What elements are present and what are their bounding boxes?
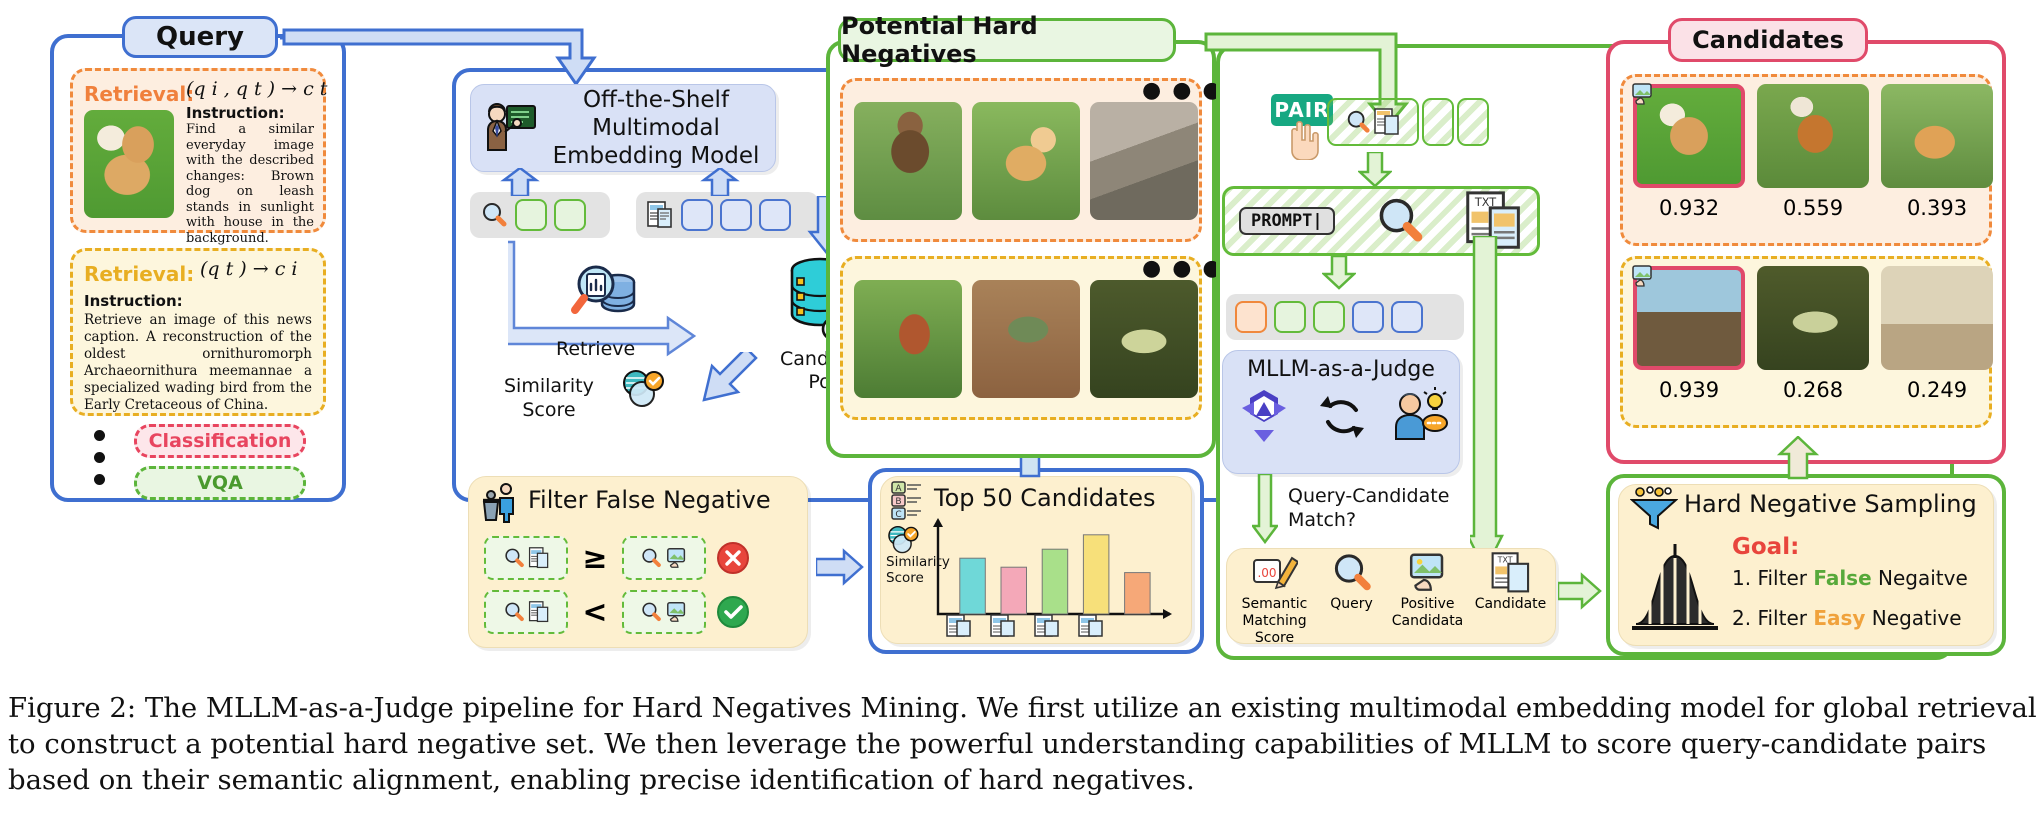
filter-to-top50-arrow — [816, 548, 864, 586]
judge-down-arrow — [1252, 474, 1278, 544]
txt-document-icon — [528, 546, 550, 570]
chart-bar — [1125, 573, 1151, 614]
task-vqa-badge[interactable]: VQA — [134, 466, 306, 500]
goal-suffix: Negative — [1865, 606, 1961, 630]
phn-image[interactable] — [972, 280, 1080, 398]
candidate-image[interactable] — [1757, 84, 1869, 188]
top50-title: Top 50 Candidates — [934, 484, 1156, 512]
judge-token-strip — [1226, 294, 1464, 340]
judge-right-bars — [1470, 236, 1504, 576]
task-classification-label: Classification — [149, 430, 292, 452]
phn-image[interactable] — [1090, 280, 1198, 398]
phn-dino-ellipsis: ● ● ● — [1142, 256, 1224, 281]
pair-token-row — [1327, 98, 1489, 146]
txt-document-icon — [1034, 614, 1064, 638]
judge-legend-items: .00 Semantic Matching Score Query Positi… — [1232, 552, 1552, 647]
magnifier-icon — [640, 547, 662, 569]
legend-label: Candidate — [1475, 596, 1547, 613]
phn-title-tag: Potential Hard Negatives — [838, 18, 1176, 62]
embedding-model-card: Off-the-Shelf Multimodal Embedding Model — [470, 84, 776, 172]
svg-text:A: A — [895, 484, 902, 494]
goal-label: Goal: — [1732, 534, 1799, 560]
score-pencil-icon: .00 — [1252, 552, 1298, 594]
txt-document-icon — [990, 614, 1020, 638]
retrieval-text-label: Retrieval: — [84, 262, 194, 286]
funnel-icon — [1630, 486, 1678, 532]
goal-item: 1. Filter False Negaitve — [1732, 566, 1968, 590]
magnifier-icon — [480, 201, 508, 229]
candidate-score: 0.393 — [1907, 196, 1967, 220]
filter-false-negative-title: Filter False Negative — [528, 486, 771, 514]
phn-title: Potential Hard Negatives — [841, 12, 1173, 68]
pointing-hand-icon — [1285, 118, 1325, 160]
retrieval-image-label: Retrieval: — [84, 82, 194, 106]
pair-to-prompt-arrow — [1358, 152, 1392, 188]
chart-bar — [1042, 549, 1068, 614]
chart-bar — [960, 558, 986, 614]
prompt-token-box[interactable]: PROMPT| — [1239, 207, 1335, 235]
figure-root: Query Retrieval: (q i , q t ) → c t Inst… — [0, 0, 2044, 826]
magnifier-icon — [503, 547, 525, 569]
similarity-venn-icon — [886, 524, 920, 556]
candidate-score: 0.939 — [1659, 378, 1719, 402]
goal-index: 2. — [1732, 606, 1751, 630]
thumb-image-icon — [665, 546, 689, 570]
candidate-score: 0.932 — [1659, 196, 1719, 220]
goal-prefix: Filter — [1757, 566, 1813, 590]
green-check-icon — [716, 595, 750, 629]
phn-image[interactable] — [972, 102, 1080, 220]
magnifier-icon — [1345, 109, 1371, 135]
svg-text:B: B — [895, 497, 901, 507]
retrieval-db-icon — [570, 258, 640, 328]
red-cross-icon — [716, 541, 750, 575]
candidate-image[interactable] — [1633, 266, 1745, 370]
abcd-list-icon: A B C — [890, 480, 926, 520]
chart-bar — [1083, 535, 1109, 614]
magnifier-icon — [640, 601, 662, 623]
mllm-judge-title: MLLM-as-a-Judge — [1223, 357, 1459, 382]
mllm-judge-card: MLLM-as-a-Judge — [1222, 350, 1460, 474]
retrieval-image-instruction-label: Instruction: — [186, 104, 285, 122]
ellipsis-dots — [94, 430, 105, 485]
sampling-to-candidates-arrow — [1776, 436, 1820, 480]
retrieval-text-instruction-text: Retrieve an image of this news caption. … — [84, 312, 312, 414]
txt-document-icon — [1078, 614, 1108, 638]
candidate-score: 0.268 — [1783, 378, 1843, 402]
candidates-bird-items: 0.939 0.268 0.249 — [1632, 266, 1994, 402]
task-classification-badge[interactable]: Classification — [134, 424, 306, 458]
query-dog-image — [84, 110, 174, 218]
phn-dino-tiles — [854, 280, 1198, 398]
pool-to-filter-arrow — [676, 352, 766, 442]
magnifier-icon — [1331, 552, 1373, 594]
goal-prefix: Filter — [1757, 606, 1813, 630]
prompt-token-label: PROMPT| — [1251, 211, 1323, 231]
candidates-title: Candidates — [1692, 26, 1844, 54]
retrieval-image-instruction-text: Find a similar everyday image with the d… — [186, 122, 314, 246]
magnifier-icon — [503, 601, 525, 623]
thumb-image-icon — [1631, 264, 1657, 290]
thumb-image-icon — [1631, 82, 1657, 108]
top50-xaxis-thumbs — [946, 614, 1156, 640]
retrieve-label: Retrieve — [556, 338, 635, 360]
teacher-presenting-icon — [483, 98, 539, 158]
figure-caption: Figure 2: The MLLM-as-a-Judge pipeline f… — [8, 690, 2038, 798]
txt-document-icon — [1373, 107, 1401, 137]
candidate-score: 0.249 — [1907, 378, 1967, 402]
candidate-token-strip — [636, 192, 818, 238]
model-logo-icon — [1234, 386, 1294, 446]
svg-text:.00: .00 — [1257, 566, 1276, 580]
legend-label: Semantic Matching Score — [1234, 596, 1316, 647]
txt-document-icon: TXT — [1490, 552, 1532, 594]
goal-item: 2. Filter Easy Negative — [1732, 606, 1962, 630]
candidate-image[interactable] — [1881, 266, 1993, 370]
cycle-arrows-icon — [1316, 390, 1368, 442]
candidate-image[interactable] — [1633, 84, 1745, 188]
retrieval-text-instruction-label: Instruction: — [84, 292, 183, 310]
txt-document-icon — [646, 200, 674, 230]
txt-document-icon — [528, 600, 550, 624]
thinking-person-icon — [1390, 387, 1448, 445]
goal-highlight: Easy — [1813, 606, 1865, 630]
goal-suffix: Negaitve — [1872, 566, 1968, 590]
goal-index: 1. — [1732, 566, 1751, 590]
filter-row-operator: ≥ — [578, 541, 612, 576]
candidate-image[interactable] — [1757, 266, 1869, 370]
prompt-to-tokens-arrow — [1322, 256, 1356, 290]
goal-highlight: False — [1813, 566, 1871, 590]
filter-row-operator: < — [578, 595, 612, 630]
legend-label: Query — [1330, 596, 1373, 613]
embedding-model-title: Off-the-Shelf Multimodal Embedding Model — [549, 86, 763, 170]
candidates-dog-items: 0.932 0.559 0.393 — [1632, 84, 1994, 220]
phn-dog-tiles — [854, 102, 1198, 220]
filter-row: ≥ — [484, 534, 794, 582]
magnifier-icon — [1375, 196, 1425, 246]
query-title: Query — [156, 22, 244, 52]
strip-to-model-arrow-left — [500, 168, 540, 196]
candidates-title-tag: Candidates — [1668, 18, 1868, 62]
legend-label: Positive Candidata — [1392, 596, 1464, 630]
distribution-chart-icon — [1630, 536, 1720, 634]
chart-bar — [1001, 567, 1027, 614]
phn-image[interactable] — [1090, 102, 1198, 220]
svg-text:C: C — [895, 510, 901, 520]
thumb-image-icon — [1407, 552, 1449, 594]
similarity-venn-icon — [620, 368, 666, 410]
query-candidate-match-label: Query-Candidate Match? — [1288, 484, 1449, 532]
phn-image[interactable] — [854, 280, 962, 398]
txt-document-icon — [946, 614, 976, 638]
query-title-tag: Query — [122, 16, 278, 58]
query-token-strip — [470, 192, 610, 238]
candidate-image[interactable] — [1881, 84, 1993, 188]
strip-to-model-arrow-right — [700, 168, 740, 196]
hard-negative-sampling-title: Hard Negative Sampling — [1684, 490, 1977, 518]
phn-image[interactable] — [854, 102, 962, 220]
retrieval-text-formula: (q t ) → c i — [200, 258, 297, 280]
candidate-score: 0.559 — [1783, 196, 1843, 220]
filter-row: < — [484, 588, 794, 636]
thumb-image-icon — [665, 600, 689, 624]
task-vqa-label: VQA — [197, 472, 243, 494]
trash-person-icon — [480, 482, 522, 524]
similarity-score-label: Similarity Score — [504, 374, 594, 422]
legend-to-sampling-arrow — [1558, 572, 1602, 610]
